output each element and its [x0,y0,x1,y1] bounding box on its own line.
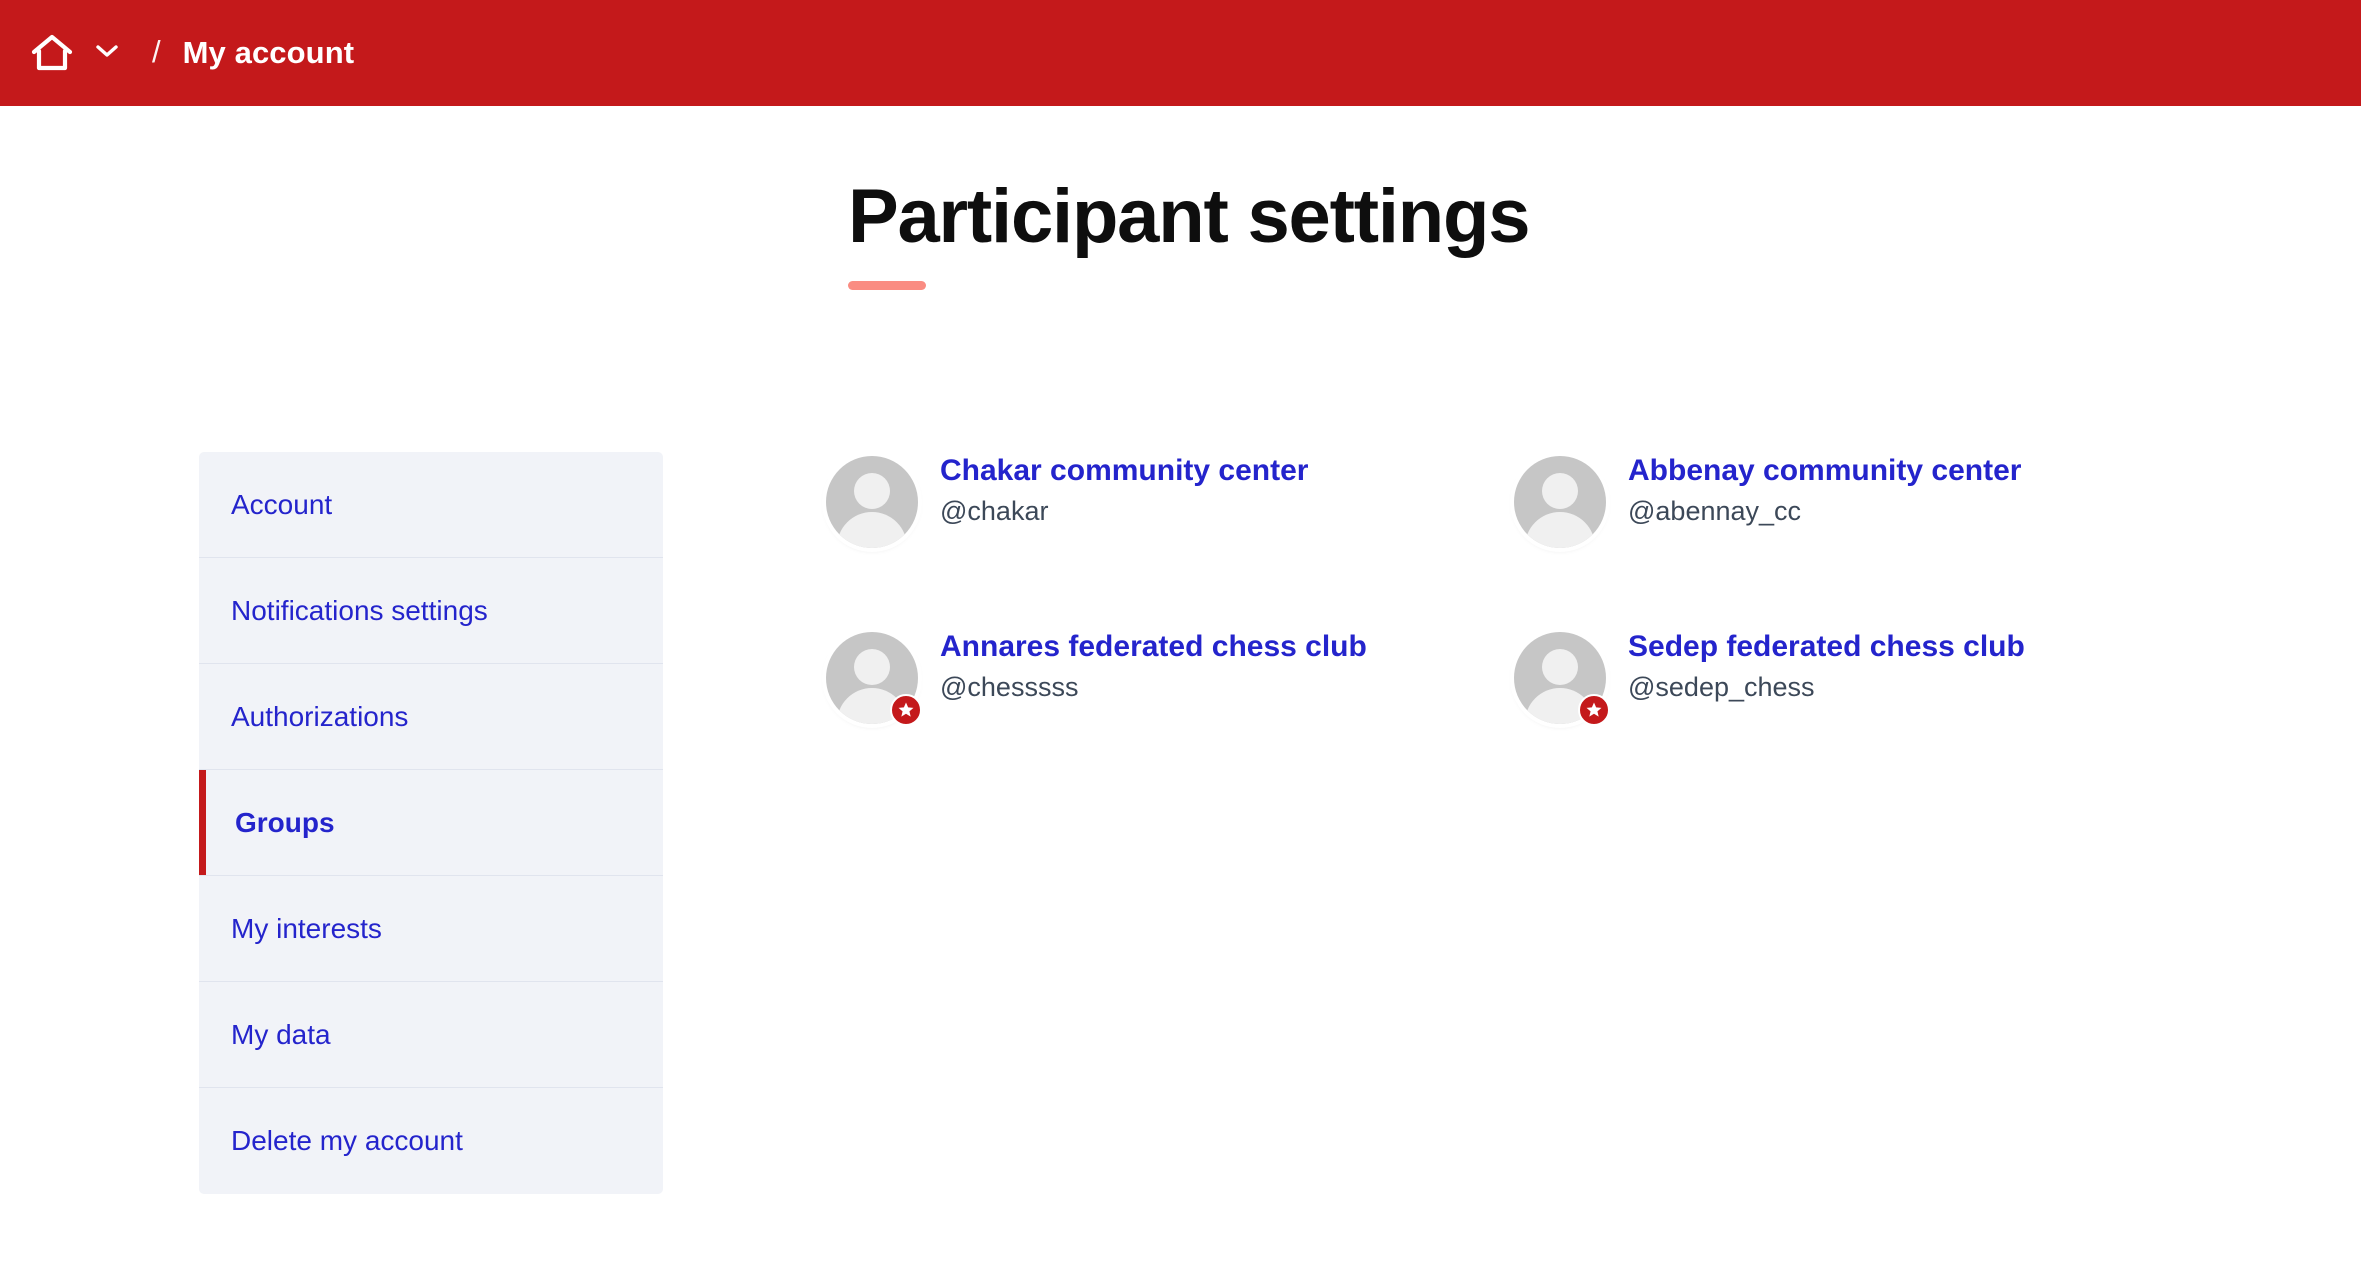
sidebar-item-authorizations[interactable]: Authorizations [199,664,663,770]
group-text-block: Abbenay community center@abennay_cc [1628,451,2021,527]
groups-list: Chakar community center@chakarAbbenay co… [826,451,2126,803]
group-verified-badge [1578,694,1610,726]
group-card[interactable]: Chakar community center@chakar [826,451,1514,627]
group-name-link[interactable]: Chakar community center [940,453,1308,489]
breadcrumb-dropdown-button[interactable] [84,30,130,76]
avatar-head-shape [1542,649,1578,685]
home-icon [31,33,73,73]
group-card[interactable]: Annares federated chess club@chesssss [826,627,1514,803]
sidebar-item-notifications-settings[interactable]: Notifications settings [199,558,663,664]
sidebar-item-label: Authorizations [231,701,408,733]
sidebar-item-label: My data [231,1019,331,1051]
sidebar-item-my-interests[interactable]: My interests [199,876,663,982]
sidebar-item-label: Groups [231,807,335,839]
avatar-head-shape [1542,473,1578,509]
page-title: Participant settings [848,179,1848,255]
breadcrumb-separator: / [152,36,161,67]
group-verified-badge [890,694,922,726]
sidebar-item-account[interactable]: Account [199,452,663,558]
avatar[interactable] [826,456,918,548]
settings-sidebar: AccountNotifications settingsAuthorizati… [199,452,663,1194]
top-navigation-bar: / My account [0,0,2361,106]
sidebar-item-label: Account [231,489,332,521]
group-text-block: Chakar community center@chakar [940,451,1308,527]
group-name-link[interactable]: Annares federated chess club [940,629,1367,665]
star-icon [897,701,915,719]
sidebar-item-delete-my-account[interactable]: Delete my account [199,1088,663,1194]
group-text-block: Sedep federated chess club@sedep_chess [1628,627,2025,703]
sidebar-item-label: Notifications settings [231,595,488,627]
avatar-head-shape [854,473,890,509]
sidebar-item-label: Delete my account [231,1125,463,1157]
avatar[interactable] [826,632,918,724]
avatar-body-shape [837,512,907,548]
group-handle: @chakar [940,495,1308,527]
group-handle: @abennay_cc [1628,495,2021,527]
sidebar-item-groups[interactable]: Groups [199,770,663,876]
title-accent-underline [848,281,926,290]
avatar[interactable] [1514,632,1606,724]
group-card[interactable]: Sedep federated chess club@sedep_chess [1514,627,2202,803]
group-text-block: Annares federated chess club@chesssss [940,627,1367,703]
breadcrumb-current-page: My account [183,35,355,71]
avatar[interactable] [1514,456,1606,548]
avatar-body-shape [1525,512,1595,548]
group-handle: @sedep_chess [1628,671,2025,703]
group-name-link[interactable]: Abbenay community center [1628,453,2021,489]
group-handle: @chesssss [940,671,1367,703]
home-button[interactable] [26,27,78,79]
group-card[interactable]: Abbenay community center@abennay_cc [1514,451,2202,627]
page-title-block: Participant settings [848,179,1848,290]
page-content: Participant settings AccountNotification… [0,106,2361,1276]
default-avatar-icon [826,456,918,548]
sidebar-item-label: My interests [231,913,382,945]
default-avatar-icon [1514,456,1606,548]
sidebar-item-my-data[interactable]: My data [199,982,663,1088]
star-icon [1585,701,1603,719]
chevron-down-icon [95,43,119,64]
avatar-head-shape [854,649,890,685]
group-name-link[interactable]: Sedep federated chess club [1628,629,2025,665]
